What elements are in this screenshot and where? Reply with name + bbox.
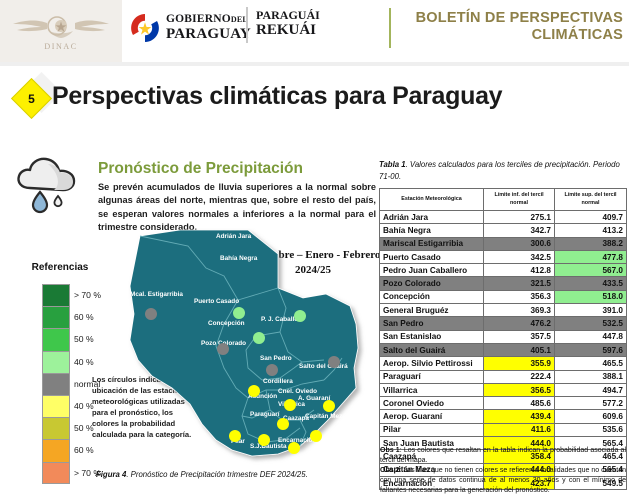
cell-station: General Bruguéz <box>380 304 484 317</box>
legend-swatch <box>42 417 70 439</box>
cell-station: San Estanislao <box>380 330 484 343</box>
legend-label: 60 % <box>74 306 94 328</box>
gobierno-wordmark: GOBIERNODEL PARAGUAY <box>166 14 251 42</box>
cell-station: Salto del Guairá <box>380 343 484 356</box>
paraguay-forecast-map: Adrián JaraBahía NegraMcal. Estigarribia… <box>128 228 380 468</box>
obs1-bold: Obs 1 <box>380 447 400 454</box>
dinac-label: DINAC <box>44 42 77 51</box>
map-station-marker[interactable] <box>284 399 296 411</box>
logo-separator <box>246 7 248 43</box>
legend-label: 40 % <box>74 351 94 373</box>
forecast-body: Se prevén acumulados de lluvia superiore… <box>98 181 376 234</box>
cell-station: Pozo Colorado <box>380 277 484 290</box>
obs-1: Obs 1: Los colores que resaltan en la ta… <box>380 446 626 465</box>
legend-item: 60 % <box>14 439 110 461</box>
legend-swatch <box>42 306 70 328</box>
cell-lower-limit: 412.8 <box>484 264 555 277</box>
table-row: Pozo Colorado321.5433.5 <box>380 277 627 290</box>
page-header: DINAC GOBIERNODEL PARAGUAY PARAGUÁI REKU… <box>0 0 629 62</box>
legend-swatch <box>42 373 70 395</box>
map-place-label: San Pedro <box>260 355 292 362</box>
table-row: General Bruguéz369.3391.0 <box>380 304 627 317</box>
cell-upper-limit: 409.7 <box>555 211 627 224</box>
table-row: Coronel Oviedo485.6577.2 <box>380 397 627 410</box>
table-row: San Pedro476.2532.5 <box>380 317 627 330</box>
cell-station: Aerop. Guaraní <box>380 410 484 423</box>
cell-lower-limit: 321.5 <box>484 277 555 290</box>
cell-lower-limit: 356.3 <box>484 290 555 303</box>
cell-upper-limit: 388.1 <box>555 370 627 383</box>
table-row: Aerop. Guaraní439.4609.6 <box>380 410 627 423</box>
table-caption: Tabla 1. Valores calculados para los ter… <box>379 159 627 182</box>
cell-upper-limit: 609.6 <box>555 410 627 423</box>
cell-upper-limit: 494.7 <box>555 383 627 396</box>
title-row: 5 Perspectivas climáticas para Paraguay <box>0 82 629 122</box>
legend-item: > 70 % <box>14 284 110 306</box>
table-row: Aerop. Silvio Pettirossi355.9465.5 <box>380 357 627 370</box>
legend-item: 40 % <box>14 351 110 373</box>
legend-label: 40 % <box>74 395 94 417</box>
section-number: 5 <box>14 82 49 116</box>
cell-upper-limit: 433.5 <box>555 277 627 290</box>
map-station-marker[interactable] <box>310 430 322 442</box>
cell-upper-limit: 597.6 <box>555 343 627 356</box>
table-row: Pilar411.6535.6 <box>380 423 627 436</box>
legend-item: 50 % <box>14 328 110 350</box>
cell-upper-limit: 577.2 <box>555 397 627 410</box>
forecast-heading: Pronóstico de Precipitación <box>98 160 303 178</box>
table-row: Adrián Jara275.1409.7 <box>380 211 627 224</box>
legend-item: 60 % <box>14 306 110 328</box>
map-station-marker[interactable] <box>248 385 260 397</box>
table-row: Bahía Negra342.7413.2 <box>380 224 627 237</box>
legend-swatch <box>42 351 70 373</box>
map-station-marker[interactable] <box>258 434 270 446</box>
table-row: Pedro Juan Caballero412.8567.0 <box>380 264 627 277</box>
cell-station: Villarrica <box>380 383 484 396</box>
gov-line1-main: GOBIERNO <box>166 13 231 25</box>
gobierno-paraguay-logo: GOBIERNODEL PARAGUAY <box>130 8 251 48</box>
table-caption-bold: Tabla 1 <box>379 160 406 169</box>
table-column-header: Límite sup. del tercil normal <box>555 189 627 211</box>
obs2-rest: : Las filas que no tienen colores se ref… <box>380 467 626 493</box>
header-vertical-divider <box>389 8 391 48</box>
page-title: Perspectivas climáticas para Paraguay <box>52 82 502 111</box>
guarani-wordmark: PARAGUÁI REKUÁI <box>256 9 320 38</box>
cell-station: Mariscal Estigarribia <box>380 237 484 250</box>
cell-lower-limit: 222.4 <box>484 370 555 383</box>
cell-station: Concepción <box>380 290 484 303</box>
map-place-label: Cordillera <box>263 378 293 385</box>
table-row: Mariscal Estigarribia300.6388.2 <box>380 237 627 250</box>
cell-station: Pilar <box>380 423 484 436</box>
obs2-bold: Obs 2 <box>380 467 399 474</box>
winged-emblem-icon <box>9 11 113 41</box>
cell-station: San Pedro <box>380 317 484 330</box>
cell-station: Adrián Jara <box>380 211 484 224</box>
cell-lower-limit: 405.1 <box>484 343 555 356</box>
table-observations: Obs 1: Los colores que resaltan en la ta… <box>380 446 626 496</box>
legend-swatch <box>42 462 70 484</box>
table-row: Villarrica356.5494.7 <box>380 383 627 396</box>
cell-station: Paraguarí <box>380 370 484 383</box>
figure-caption: Figura 4. Pronóstico de Precipitación tr… <box>96 470 386 479</box>
legend-title: Referencias <box>14 262 106 273</box>
cell-lower-limit: 369.3 <box>484 304 555 317</box>
cell-upper-limit: 535.6 <box>555 423 627 436</box>
tercile-table-wrapper: Estación MeteorológicaLímite inf. del te… <box>379 188 626 490</box>
legend-swatch <box>42 284 70 306</box>
map-place-label: S.J.Bautista <box>250 443 287 450</box>
legend-label: 50 % <box>74 417 94 439</box>
cell-lower-limit: 342.7 <box>484 224 555 237</box>
cell-lower-limit: 411.6 <box>484 423 555 436</box>
map-station-marker[interactable] <box>217 343 229 355</box>
figure-caption-rest: . Pronóstico de Precipitación trimestre … <box>126 470 307 479</box>
map-station-marker[interactable] <box>145 308 157 320</box>
cell-upper-limit: 465.5 <box>555 357 627 370</box>
map-place-label: Bahía Negra <box>220 255 258 262</box>
cell-upper-limit: 388.2 <box>555 237 627 250</box>
tercile-table: Estación MeteorológicaLímite inf. del te… <box>379 188 627 490</box>
cell-lower-limit: 439.4 <box>484 410 555 423</box>
legend-label: > 70 % <box>74 284 101 306</box>
cell-lower-limit: 357.5 <box>484 330 555 343</box>
table-header-row: Estación MeteorológicaLímite inf. del te… <box>380 189 627 211</box>
cell-station: Pedro Juan Caballero <box>380 264 484 277</box>
map-station-marker[interactable] <box>266 364 278 376</box>
cell-upper-limit: 391.0 <box>555 304 627 317</box>
cell-upper-limit: 477.8 <box>555 250 627 263</box>
cell-upper-limit: 532.5 <box>555 317 627 330</box>
cell-station: Aerop. Silvio Pettirossi <box>380 357 484 370</box>
legend-swatch <box>42 439 70 461</box>
cell-upper-limit: 413.2 <box>555 224 627 237</box>
cell-lower-limit: 300.6 <box>484 237 555 250</box>
cell-station: Puerto Casado <box>380 250 484 263</box>
cell-station: Bahía Negra <box>380 224 484 237</box>
legend-swatch <box>42 328 70 350</box>
obs1-rest: : Los colores que resaltan en la tabla i… <box>380 447 626 464</box>
map-station-marker[interactable] <box>229 430 241 442</box>
legend-label: 60 % <box>74 439 94 461</box>
map-station-marker[interactable] <box>328 356 340 368</box>
map-place-label: Capitán Meza <box>305 413 346 420</box>
map-place-label: Concepción <box>208 320 245 327</box>
cell-lower-limit: 355.9 <box>484 357 555 370</box>
map-place-label: Cnel. Oviedo <box>278 388 317 395</box>
obs-2: Obs 2: Las filas que no tienen colores s… <box>380 466 626 495</box>
map-station-marker[interactable] <box>253 332 265 344</box>
map-station-marker[interactable] <box>288 442 300 454</box>
gn-line1: PARAGUÁI <box>256 9 320 21</box>
table-caption-rest: . Valores calculados para los terciles d… <box>379 160 620 181</box>
cell-upper-limit: 567.0 <box>555 264 627 277</box>
table-column-header: Límite inf. del tercil normal <box>484 189 555 211</box>
map-place-label: Adrián Jara <box>216 233 252 240</box>
cell-lower-limit: 485.6 <box>484 397 555 410</box>
gn-line2: REKUÁI <box>256 23 320 38</box>
rain-cloud-icon <box>14 152 82 214</box>
map-place-label: Puerto Casado <box>194 298 239 305</box>
table-row: Puerto Casado342.5477.8 <box>380 250 627 263</box>
cell-lower-limit: 356.5 <box>484 383 555 396</box>
map-place-label: Mcal. Estigarribia <box>130 291 183 298</box>
bulletin-title: BOLETÍN DE PERSPECTIVAS CLIMÁTICAS <box>393 10 623 44</box>
map-station-marker[interactable] <box>277 418 289 430</box>
cell-upper-limit: 518.0 <box>555 290 627 303</box>
table-row: Concepción356.3518.0 <box>380 290 627 303</box>
map-place-label: Paraguarí <box>250 411 280 418</box>
legend-label: 50 % <box>74 328 94 350</box>
legend-swatch <box>42 395 70 417</box>
table-row: Paraguarí222.4388.1 <box>380 370 627 383</box>
cell-lower-limit: 342.5 <box>484 250 555 263</box>
map-place-label: Salto del Guairá <box>299 363 348 370</box>
header-rule <box>0 62 629 66</box>
figure-caption-bold: Figura 4 <box>96 470 126 479</box>
table-row: San Estanislao357.5447.8 <box>380 330 627 343</box>
table-column-header: Estación Meteorológica <box>380 189 484 211</box>
paraguay-emblem-icon <box>130 13 160 43</box>
gov-line2: PARAGUAY <box>166 27 251 42</box>
dinac-logo: DINAC <box>0 0 122 62</box>
cell-lower-limit: 476.2 <box>484 317 555 330</box>
map-station-marker[interactable] <box>233 307 245 319</box>
table-row: Salto del Guairá405.1597.6 <box>380 343 627 356</box>
cell-station: Coronel Oviedo <box>380 397 484 410</box>
cell-upper-limit: 447.8 <box>555 330 627 343</box>
map-station-marker[interactable] <box>323 400 335 412</box>
map-station-marker[interactable] <box>294 310 306 322</box>
cell-lower-limit: 275.1 <box>484 211 555 224</box>
